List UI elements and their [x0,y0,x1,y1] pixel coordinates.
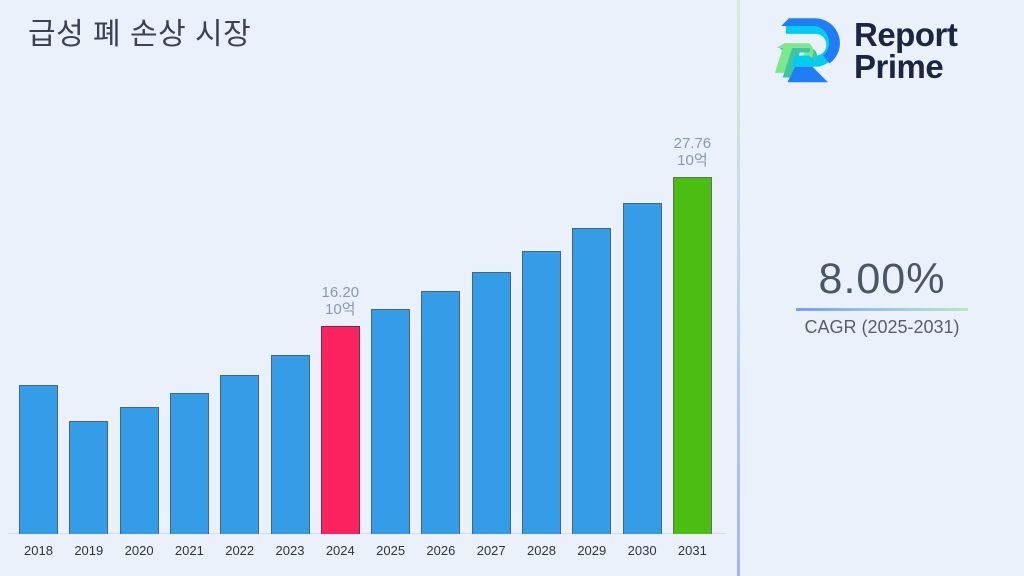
bar-2019 [69,421,108,534]
x-tick-2028: 2028 [514,543,569,558]
x-tick-2024: 2024 [313,543,368,558]
x-tick-2027: 2027 [464,543,519,558]
slide-canvas: 급성 폐 손상 시장 20182019202020212022202320242… [0,0,1024,576]
cagr-caption: CAGR (2025-2031) [740,317,1024,338]
bar-2020 [120,407,159,534]
x-tick-2031: 2031 [665,543,720,558]
brand-logo: Report Prime [764,12,957,90]
bar-2027 [472,272,511,534]
bar-2026 [421,291,460,534]
bar-value-label-2024: 16.2010억 [293,284,388,318]
cagr-block: 8.00% CAGR (2025-2031) [740,255,1024,338]
bar-value-amount: 16.20 [293,284,388,301]
x-tick-2026: 2026 [413,543,468,558]
bar-2021 [170,393,209,534]
bar-2031 [673,177,712,534]
bar-2022 [220,375,259,534]
bar-value-unit: 10억 [293,301,388,318]
bar-2029 [572,228,611,534]
bar-2018 [19,385,58,534]
brand-logo-text: Report Prime [854,19,957,84]
bar-value-label-2031: 27.7610억 [645,135,740,169]
bar-2025 [371,309,410,534]
side-panel: Report Prime 8.00% CAGR (2025-2031) [740,0,1024,576]
bar-2023 [271,355,310,534]
cagr-value: 8.00% [740,255,1024,304]
brand-logo-line-1: Report [854,19,957,51]
x-tick-2030: 2030 [615,543,670,558]
x-tick-2019: 2019 [61,543,116,558]
x-tick-2021: 2021 [162,543,217,558]
bar-value-amount: 27.76 [645,135,740,152]
x-tick-2018: 2018 [11,543,66,558]
bar-2024 [321,326,360,534]
bar-2030 [623,203,662,534]
report-prime-logo-mark-icon [764,12,842,90]
bar-chart: 2018201920202021202220232024202520262027… [0,0,737,576]
x-tick-2029: 2029 [564,543,619,558]
x-tick-2020: 2020 [112,543,167,558]
cagr-divider-rule [796,308,968,311]
brand-logo-line-2: Prime [854,51,957,83]
x-tick-2022: 2022 [212,543,267,558]
bar-value-unit: 10억 [645,152,740,169]
x-tick-2025: 2025 [363,543,418,558]
x-axis-line [8,533,726,534]
bar-2028 [522,251,561,534]
x-tick-2023: 2023 [263,543,318,558]
